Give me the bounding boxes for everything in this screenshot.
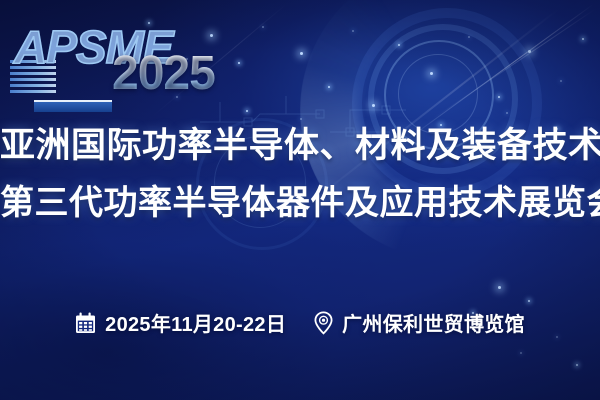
event-info-bar: 2025年11月20-22日 广州保利世贸博览馆 xyxy=(0,308,600,337)
event-banner: APSME 2025 亚洲国际功率半导体、材料及装备技术展览会 第三代功率半导体… xyxy=(0,0,600,400)
event-title-secondary: 第三代功率半导体器件及应用技术展览会 xyxy=(0,186,600,220)
event-venue-text: 广州保利世贸博览馆 xyxy=(342,308,525,337)
location-pin-icon xyxy=(314,311,333,335)
logo-year: 2025 xyxy=(112,50,215,98)
brand-logo: APSME 2025 xyxy=(8,24,204,96)
event-title-primary: 亚洲国际功率半导体、材料及装备技术展览会 xyxy=(0,128,600,163)
event-venue-item: 广州保利世贸博览馆 xyxy=(314,308,525,337)
logo-tagline-bar xyxy=(34,100,112,112)
tech-ring-core xyxy=(398,54,478,134)
headline-group: 亚洲国际功率半导体、材料及装备技术展览会 第三代功率半导体器件及应用技术展览会 xyxy=(0,128,600,220)
calendar-icon xyxy=(75,312,96,334)
light-streak xyxy=(430,8,596,121)
event-date-text: 2025年11月20-22日 xyxy=(105,308,286,337)
event-date-item: 2025年11月20-22日 xyxy=(75,308,286,337)
